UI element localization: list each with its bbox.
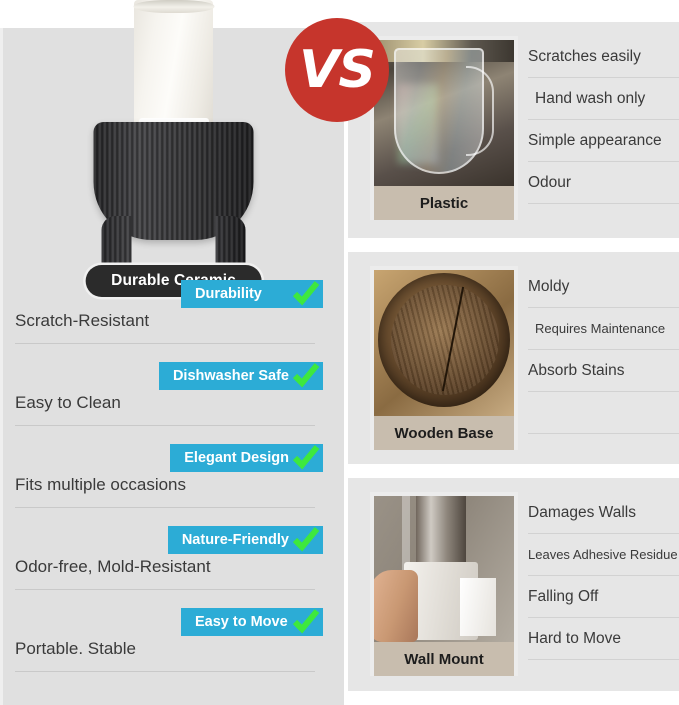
feature-divider [15,507,315,508]
feature-divider [15,589,315,590]
plastic-photo-frame: Plastic [370,36,518,220]
drawback-spacer [528,392,679,434]
wall-mount-photo-frame: Wall Mount [370,492,518,676]
wooden-drawback-list: Moldy Requires Maintenance Absorb Stains [528,266,679,434]
feature-badge-label: Durability [195,286,289,302]
feature-row: Easy to Move Portable. Stable [3,603,347,685]
mount-bracket-front [460,578,496,636]
feature-badge: Dishwasher Safe [159,362,323,390]
panel-caption: Wooden Base [374,416,514,450]
check-icon [293,610,319,634]
panel-caption: Plastic [374,186,514,220]
wooden-photo-frame: Wooden Base [370,266,518,450]
drawback-item: Simple appearance [528,120,679,162]
ceramic-cup-holder-image [86,0,261,245]
check-icon [293,446,319,470]
feature-divider [15,343,315,344]
versus-label: VS [299,44,375,96]
feature-description: Fits multiple occasions [15,475,186,495]
silicone-holder [94,122,254,240]
feature-badge-label: Elegant Design [184,450,289,466]
drawback-item: Falling Off [528,576,679,618]
check-icon [293,282,319,306]
wall-mount-drawback-list: Damages Walls Leaves Adhesive Residue Fa… [528,492,679,660]
feature-row: Elegant Design Fits multiple occasions [3,439,347,521]
feature-badge: Elegant Design [170,444,323,472]
check-icon [293,528,319,552]
panel-caption: Wall Mount [374,642,514,676]
feature-description: Scratch-Resistant [15,311,149,331]
feature-badge-label: Easy to Move [195,614,289,630]
plastic-cup-photo [374,40,514,186]
feature-badge-label: Dishwasher Safe [173,368,289,384]
feature-description: Portable. Stable [15,639,136,659]
drawback-item: Absorb Stains [528,350,679,392]
wooden-bowl-photo [374,270,514,416]
ceramic-product-column: Durable Ceramic Durability Scratch-Resis… [0,28,344,705]
drawback-item: Requires Maintenance [528,308,679,350]
alternative-panel-wooden-base: Wooden Base Moldy Requires Maintenance A… [348,252,679,464]
feature-badge: Durability [181,280,323,308]
comparison-infographic: Durable Ceramic Durability Scratch-Resis… [0,0,679,705]
hand [374,570,418,642]
drawback-item: Scratches easily [528,36,679,78]
drawback-item: Hand wash only [528,78,679,120]
alternatives-column: Plastic Scratches easily Hand wash only … [348,0,679,705]
drawback-item: Hard to Move [528,618,679,660]
feature-badge-label: Nature-Friendly [182,532,289,548]
drawback-item: Moldy [528,266,679,308]
drawback-item: Leaves Adhesive Residue [528,534,679,576]
feature-row: Nature-Friendly Odor-free, Mold-Resistan… [3,521,347,603]
cup-rim [133,0,214,13]
versus-badge: VS [285,18,389,122]
drawback-item: Odour [528,162,679,204]
alternative-panel-wall-mount: Wall Mount Damages Walls Leaves Adhesive… [348,478,679,691]
wall-mount-photo [374,496,514,642]
feature-description: Easy to Clean [15,393,121,413]
feature-row: Dishwasher Safe Easy to Clean [3,357,347,439]
drawback-item: Damages Walls [528,492,679,534]
feature-divider [15,425,315,426]
feature-badge: Easy to Move [181,608,323,636]
check-icon [293,364,319,388]
feature-description: Odor-free, Mold-Resistant [15,557,211,577]
plastic-handle [466,66,494,156]
plastic-drawback-list: Scratches easily Hand wash only Simple a… [528,36,679,204]
feature-row: Durability Scratch-Resistant [3,275,347,357]
feature-list: Durability Scratch-Resistant Dishwasher … [3,275,347,685]
alternative-panel-plastic: Plastic Scratches easily Hand wash only … [348,22,679,238]
feature-divider [15,671,315,672]
feature-badge: Nature-Friendly [168,526,323,554]
